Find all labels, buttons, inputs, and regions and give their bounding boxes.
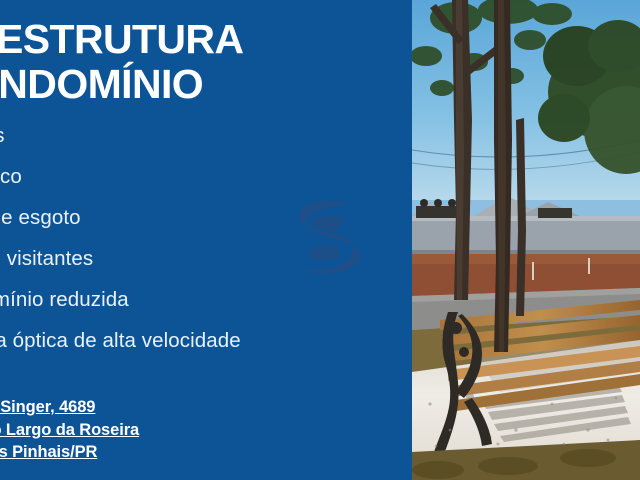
list-item: faltadas — [0, 125, 412, 166]
list-item: em fibra óptica de alta velocidade — [0, 330, 412, 371]
real-estate-infographic-slide: RAESTRUTURA CONDOMÍNIO faltadas eletrôni… — [0, 0, 640, 480]
feature-list: faltadas eletrônico letora de esgoto ame… — [0, 125, 412, 371]
list-item: eletrônico — [0, 166, 412, 207]
address-block: ntônio Singer, 4689 Campo Largo da Rosei… — [0, 396, 412, 464]
list-item: amento visitantes — [0, 248, 412, 289]
address-line-2: Campo Largo da Roseira — [0, 419, 412, 442]
list-item: Condomínio reduzida — [0, 289, 412, 330]
page-title-line-1: RAESTRUTURA — [0, 17, 412, 62]
property-photo — [412, 0, 640, 480]
list-item: letora de esgoto — [0, 207, 412, 248]
page-title-line-2: CONDOMÍNIO — [0, 62, 412, 107]
address-line-3: osé dos Pinhais/PR — [0, 441, 412, 464]
page-title: RAESTRUTURA CONDOMÍNIO — [0, 17, 412, 107]
info-panel: RAESTRUTURA CONDOMÍNIO faltadas eletrôni… — [0, 0, 412, 480]
address-line-1: ntônio Singer, 4689 — [0, 396, 412, 419]
